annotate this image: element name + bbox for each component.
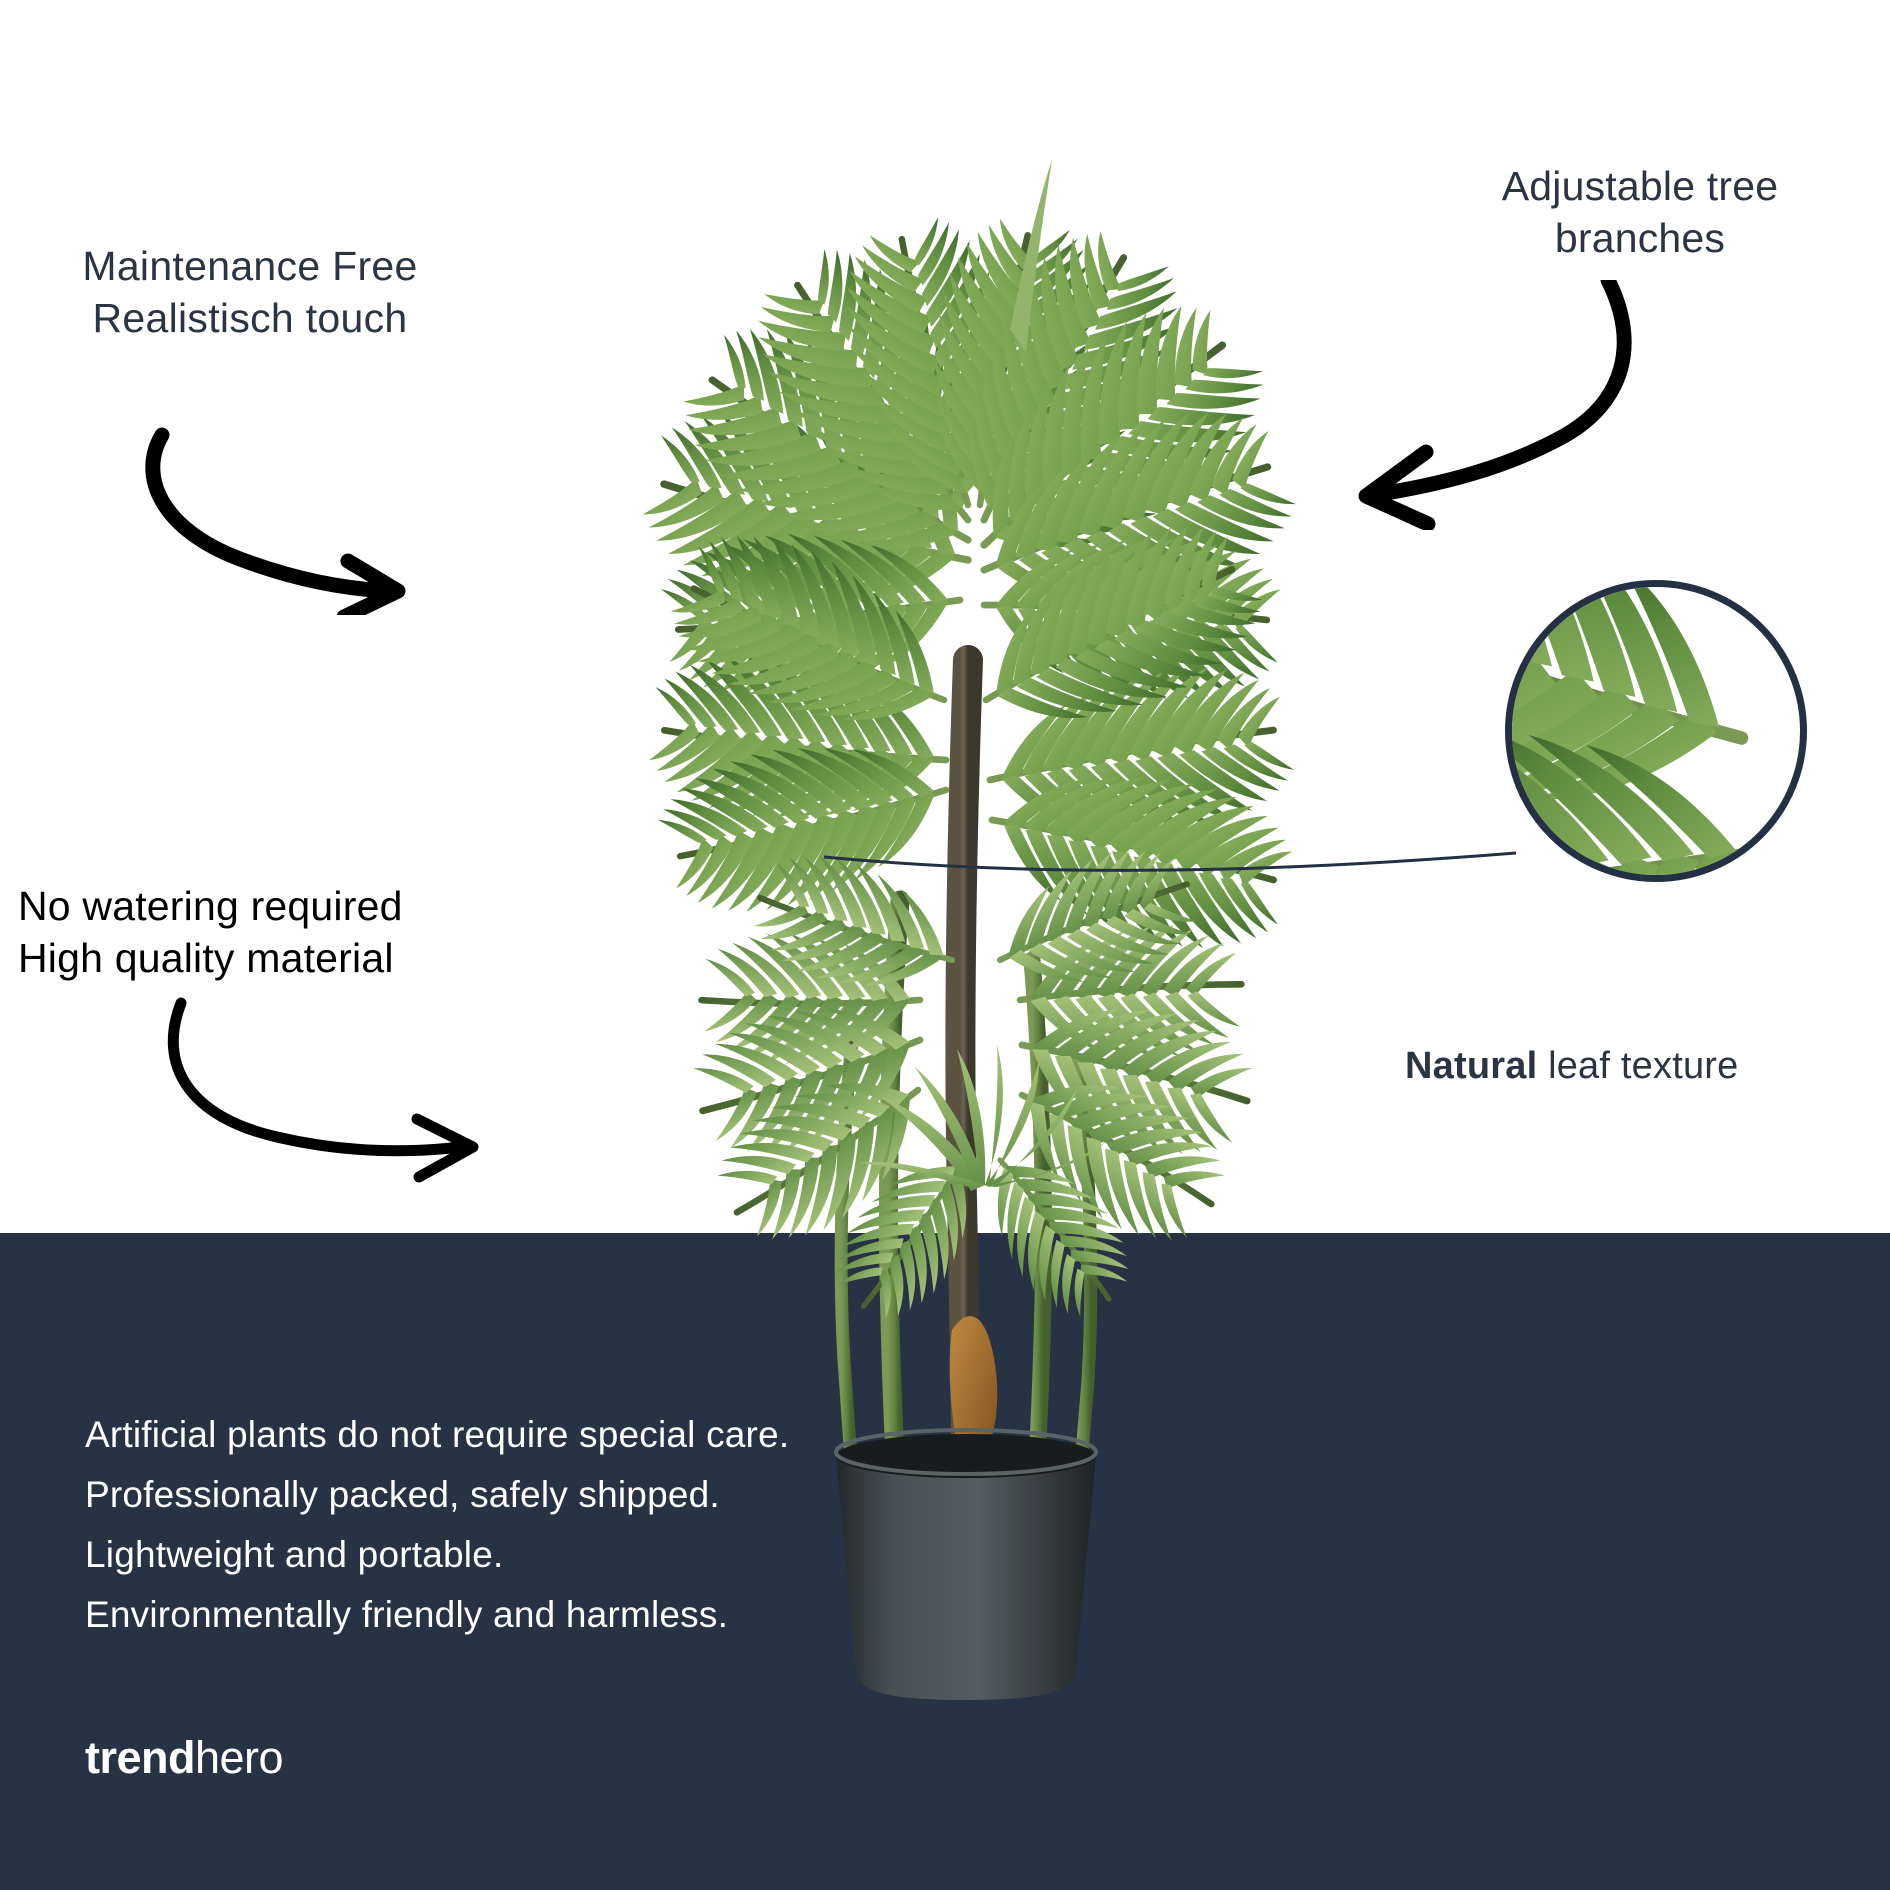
panel-benefit-list: Artificial plants do not require special… (85, 1405, 985, 1645)
annotation-maintenance-free: Maintenance Free Realistisch touch (40, 240, 460, 345)
natural-rest: leaf texture (1537, 1045, 1738, 1087)
logo-strong: trend (85, 1732, 195, 1783)
panel-line: Professionally packed, safely shipped. (85, 1465, 985, 1525)
logo-light: hero (195, 1732, 283, 1783)
magnifier-leaf-closeup (1505, 580, 1807, 882)
natural-strong: Natural (1405, 1045, 1537, 1087)
infographic-canvas: Maintenance Free Realistisch touch Adjus… (0, 0, 1890, 1890)
curved-arrow-down-right-icon (155, 995, 495, 1185)
panel-line: Environmentally friendly and harmless. (85, 1585, 985, 1645)
panel-line: Lightweight and portable. (85, 1525, 985, 1585)
brand-logo-trendhero: trendhero (85, 1732, 283, 1784)
curved-arrow-down-left-icon (1320, 280, 1650, 530)
annotation-no-watering: No watering required High quality materi… (18, 880, 478, 985)
annotation-adjustable-branches: Adjustable tree branches (1430, 160, 1850, 265)
annotation-natural-leaf-texture: Natural leaf texture (1405, 1045, 1738, 1088)
leaf-texture-magnifier (1505, 580, 1807, 882)
magnifier-connector-line (820, 845, 1520, 885)
curved-arrow-right-down-icon (120, 425, 420, 615)
panel-line: Artificial plants do not require special… (85, 1405, 985, 1465)
